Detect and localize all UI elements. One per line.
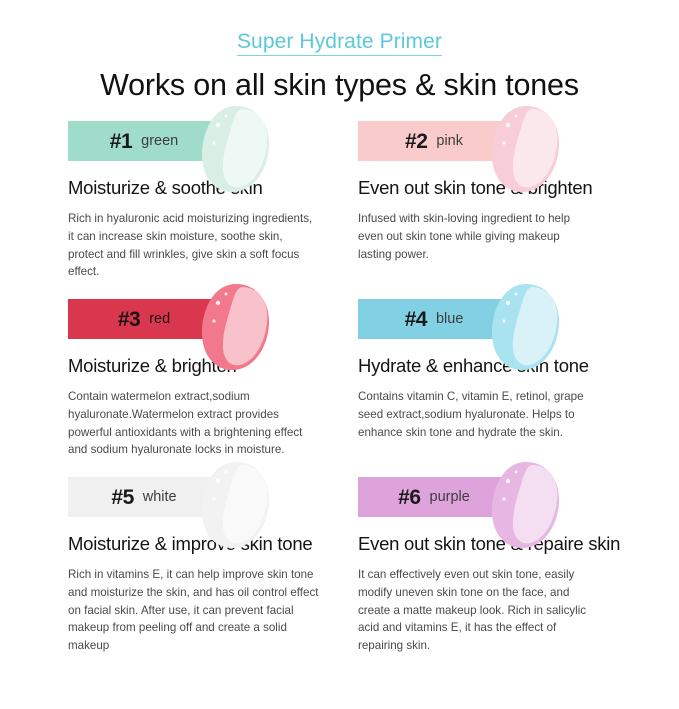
shade-badge-4: #4 blue	[358, 299, 510, 339]
shade-number-4: #4	[405, 309, 427, 330]
badge-row-1: #1 green	[68, 121, 358, 163]
shade-number-5: #5	[111, 487, 133, 508]
brand-header: Super Hydrate Primer	[0, 30, 679, 56]
benefit-card-4: #4 blue Hydrate & enhance skin tone Cont…	[358, 299, 657, 477]
shade-color-name-3: red	[149, 312, 170, 327]
shade-color-name-4: blue	[436, 312, 463, 327]
shade-badge-1: #1 green	[68, 121, 220, 161]
benefit-card-3: #3 red Moisturize & brighten Contain wat…	[68, 299, 358, 477]
benefit-card-5: #5 white Moisturize & improve skin tone …	[68, 477, 358, 655]
shade-number-2: #2	[405, 131, 427, 152]
benefit-title-5: Moisturize & improve skin tone	[68, 533, 358, 555]
benefit-card-1: #1 green Moisturize & soothe ski	[68, 121, 358, 299]
page-headline: Works on all skin types & skin tones	[0, 68, 679, 103]
shade-badge-3: #3 red	[68, 299, 220, 339]
shade-badge-2: #2 pink	[358, 121, 510, 161]
benefit-body-3: Contain watermelon extract,sodium hyalur…	[68, 388, 320, 458]
shade-badge-6: #6 purple	[358, 477, 510, 517]
shade-color-name-5: white	[143, 490, 177, 505]
benefit-title-1: Moisturize & soothe skin	[68, 177, 358, 199]
infographic-page: Super Hydrate Primer Works on all skin t…	[0, 30, 679, 709]
shade-number-1: #1	[110, 131, 132, 152]
shade-color-name-6: purple	[430, 490, 470, 505]
benefit-card-2: #2 pink Even out skin tone & brighten In…	[358, 121, 657, 299]
brand-name: Super Hydrate Primer	[237, 30, 442, 56]
benefit-body-1: Rich in hyaluronic acid moisturizing ing…	[68, 210, 320, 280]
shade-badge-5: #5 white	[68, 477, 220, 517]
shade-color-name-2: pink	[436, 134, 463, 149]
benefit-body-5: Rich in vitamins E, it can help improve …	[68, 566, 320, 654]
benefit-title-2: Even out skin tone & brighten	[358, 177, 657, 199]
badge-row-4: #4 blue	[358, 299, 657, 341]
benefit-title-4: Hydrate & enhance skin tone	[358, 355, 657, 377]
shade-color-name-1: green	[141, 134, 178, 149]
benefits-grid: #1 green Moisturize & soothe ski	[0, 121, 679, 655]
benefit-body-6: It can effectively even out skin tone, e…	[358, 566, 590, 654]
benefit-body-2: Infused with skin-loving ingredient to h…	[358, 210, 590, 263]
badge-row-2: #2 pink	[358, 121, 657, 163]
benefit-title-6: Even out skin tone & repaire skin	[358, 533, 657, 555]
shade-number-6: #6	[398, 487, 420, 508]
benefit-card-6: #6 purple Even out skin tone & repaire s…	[358, 477, 657, 655]
benefit-title-3: Moisturize & brighten	[68, 355, 358, 377]
badge-row-3: #3 red	[68, 299, 358, 341]
benefit-body-4: Contains vitamin C, vitamin E, retinol, …	[358, 388, 590, 441]
badge-row-6: #6 purple	[358, 477, 657, 519]
badge-row-5: #5 white	[68, 477, 358, 519]
shade-number-3: #3	[118, 309, 140, 330]
